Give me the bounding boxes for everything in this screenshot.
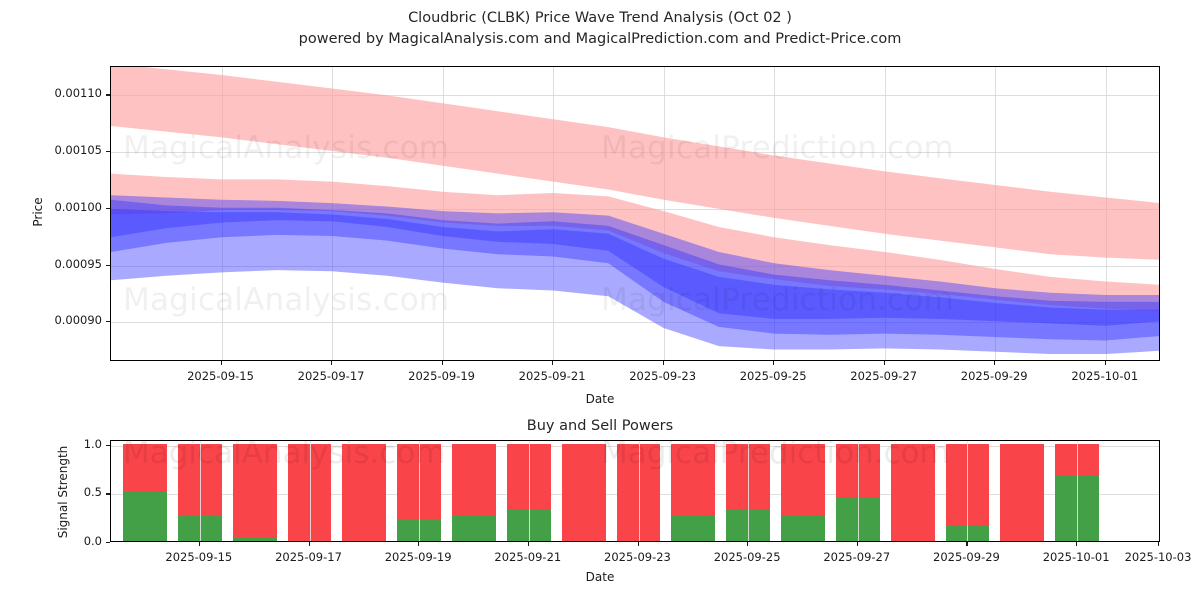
y-tick [106, 265, 110, 266]
stacked-bar[interactable] [452, 444, 496, 541]
y-tick [106, 542, 110, 543]
y-tick-label: 0.00110 [12, 86, 102, 100]
x-tick [331, 361, 332, 365]
x-tick [309, 542, 310, 546]
date-axis-label-top: Date [0, 392, 1200, 406]
y-tick-label: 0.00095 [12, 257, 102, 271]
x-tick-label: 2025-09-27 [829, 369, 939, 383]
sell-power-segment [562, 444, 606, 541]
sell-power-segment [781, 444, 825, 515]
y-tick [106, 94, 110, 95]
x-tick-label: 2025-09-17 [276, 369, 386, 383]
x-tick [884, 361, 885, 365]
chart-title: Cloudbric (CLBK) Price Wave Trend Analys… [0, 8, 1200, 29]
x-tick [966, 542, 967, 546]
x-tick [663, 361, 664, 365]
x-tick-label: 2025-09-27 [802, 550, 912, 564]
stacked-bar[interactable] [891, 444, 935, 541]
x-tick-label: 2025-10-03 [1103, 550, 1200, 564]
buy-power-segment [123, 492, 167, 541]
x-tick-label: 2025-09-17 [253, 550, 363, 564]
y-tick [106, 445, 110, 446]
chart-subtitle: powered by MagicalAnalysis.com and Magic… [0, 29, 1200, 50]
x-tick [552, 361, 553, 365]
stacked-bar[interactable] [671, 444, 715, 541]
x-tick [1076, 542, 1077, 546]
x-tick [1105, 361, 1106, 365]
y-tick [106, 208, 110, 209]
x-tick [1158, 542, 1159, 546]
x-tick [528, 542, 529, 546]
stacked-bar[interactable] [233, 444, 277, 541]
x-tick [442, 361, 443, 365]
stacked-bar[interactable] [1000, 444, 1044, 541]
gridline-vertical [639, 441, 640, 541]
x-tick-label: 2025-09-19 [363, 550, 473, 564]
chart-page: Cloudbric (CLBK) Price Wave Trend Analys… [0, 0, 1200, 600]
x-tick-label: 2025-09-25 [692, 550, 802, 564]
x-tick-label: 2025-09-23 [582, 550, 692, 564]
x-tick-label: 2025-09-29 [939, 369, 1049, 383]
y-tick-label: 0.0 [12, 534, 102, 548]
stacked-bar[interactable] [562, 444, 606, 541]
gridline-vertical [529, 441, 530, 541]
x-tick-label: 2025-09-21 [473, 550, 583, 564]
gridline-vertical [200, 441, 201, 541]
stacked-bar[interactable] [123, 444, 167, 541]
x-tick-label: 2025-09-23 [608, 369, 718, 383]
sell-power-segment [233, 444, 277, 538]
buy-power-segment [233, 538, 277, 541]
x-tick-label: 2025-09-29 [911, 550, 1021, 564]
sell-power-segment [123, 444, 167, 493]
sell-power-segment [452, 444, 496, 515]
x-tick-label: 2025-10-01 [1050, 369, 1160, 383]
y-tick-label: 0.00105 [12, 143, 102, 157]
gridline-vertical [748, 441, 749, 541]
sell-power-segment [671, 444, 715, 515]
price-wave-axes: MagicalAnalysis.comMagicalPrediction.com… [110, 66, 1160, 361]
x-tick-label: 2025-09-15 [166, 369, 276, 383]
buy-power-segment [781, 515, 825, 541]
y-tick-label: 0.00090 [12, 313, 102, 327]
x-tick [199, 542, 200, 546]
x-tick-label: 2025-09-15 [144, 550, 254, 564]
y-tick [106, 151, 110, 152]
stacked-bar[interactable] [781, 444, 825, 541]
x-tick-label: 2025-09-21 [497, 369, 607, 383]
gridline-vertical [858, 441, 859, 541]
gridline-vertical [967, 441, 968, 541]
y-tick-label: 0.00100 [12, 200, 102, 214]
x-tick-label: 2025-09-25 [718, 369, 828, 383]
y-tick [106, 321, 110, 322]
sell-power-segment [342, 444, 386, 541]
x-tick [418, 542, 419, 546]
gridline-vertical [1077, 441, 1078, 541]
x-tick [994, 361, 995, 365]
x-tick [747, 542, 748, 546]
x-tick [857, 542, 858, 546]
y-tick [106, 493, 110, 494]
gridline-vertical [1159, 441, 1160, 541]
buy-sell-axes: MagicalAnalysis.comMagicalPrediction.com [110, 440, 1160, 542]
x-tick-label: 2025-09-19 [387, 369, 497, 383]
x-tick [221, 361, 222, 365]
price-band-group [111, 67, 1160, 361]
page-title: Cloudbric (CLBK) Price Wave Trend Analys… [0, 8, 1200, 50]
gridline-vertical [419, 441, 420, 541]
gridline-vertical [310, 441, 311, 541]
y-tick-label: 1.0 [12, 437, 102, 451]
buy-sell-title: Buy and Sell Powers [0, 418, 1200, 434]
x-tick [638, 542, 639, 546]
y-tick-label: 0.5 [12, 485, 102, 499]
buy-power-segment [452, 515, 496, 541]
sell-power-segment [891, 444, 935, 541]
sell-power-segment [1000, 444, 1044, 541]
x-tick [773, 361, 774, 365]
buy-power-segment [671, 515, 715, 541]
date-axis-label-bottom: Date [0, 570, 1200, 584]
stacked-bar[interactable] [342, 444, 386, 541]
